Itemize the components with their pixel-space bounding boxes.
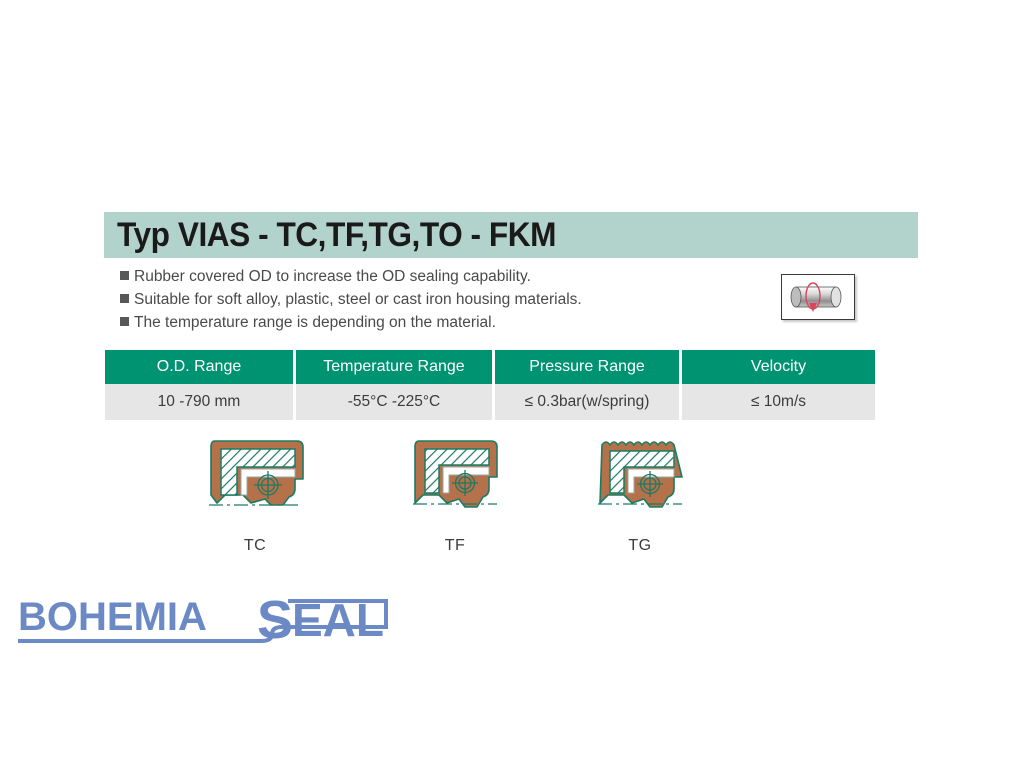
seal-label-tg: TG bbox=[588, 537, 692, 555]
feature-text: The temperature range is depending on th… bbox=[134, 313, 496, 333]
seal-cross-section-tc-icon bbox=[197, 433, 313, 533]
list-item: Suitable for soft alloy, plastic, steel … bbox=[120, 290, 740, 310]
square-bullet-icon bbox=[120, 294, 129, 303]
logo-text-bohemia: BOHEMIA bbox=[18, 595, 207, 639]
page-title: Typ VIAS - TC,TF,TG,TO - FKM bbox=[104, 216, 556, 255]
seal-diagram-tc: TC bbox=[197, 433, 313, 555]
feature-text: Rubber covered OD to increase the OD sea… bbox=[134, 267, 531, 287]
table-row: 10 -790 mm -55°C -225°C ≤ 0.3bar(w/sprin… bbox=[105, 384, 875, 420]
seal-diagram-tg: TG bbox=[588, 433, 692, 555]
column-header-pressure-range: Pressure Range bbox=[494, 350, 681, 384]
rotating-shaft-icon bbox=[782, 275, 854, 319]
table-header-row: O.D. Range Temperature Range Pressure Ra… bbox=[105, 350, 875, 384]
list-item: The temperature range is depending on th… bbox=[120, 313, 740, 333]
column-header-temperature-range: Temperature Range bbox=[295, 350, 494, 384]
cell-pressure-range: ≤ 0.3bar(w/spring) bbox=[494, 384, 681, 420]
seal-cross-section-tf-icon bbox=[403, 433, 507, 533]
square-bullet-icon bbox=[120, 271, 129, 280]
rotating-shaft-icon-box bbox=[781, 274, 855, 320]
bohemia-seal-logo: BOHEMIA S EAL bbox=[14, 588, 394, 650]
feature-list: Rubber covered OD to increase the OD sea… bbox=[120, 267, 740, 336]
feature-text: Suitable for soft alloy, plastic, steel … bbox=[134, 290, 582, 310]
cell-temperature-range: -55°C -225°C bbox=[295, 384, 494, 420]
list-item: Rubber covered OD to increase the OD sea… bbox=[120, 267, 740, 287]
seal-cross-section-tg-icon bbox=[588, 433, 692, 533]
column-header-velocity: Velocity bbox=[681, 350, 876, 384]
square-bullet-icon bbox=[120, 317, 129, 326]
seal-label-tc: TC bbox=[197, 537, 313, 555]
specification-table: O.D. Range Temperature Range Pressure Ra… bbox=[105, 350, 875, 420]
title-banner: Typ VIAS - TC,TF,TG,TO - FKM bbox=[104, 212, 918, 258]
column-header-od-range: O.D. Range bbox=[105, 350, 295, 384]
cell-velocity: ≤ 10m/s bbox=[681, 384, 876, 420]
seal-diagram-tf: TF bbox=[403, 433, 507, 555]
logo-icon: BOHEMIA S EAL bbox=[14, 588, 394, 650]
seal-label-tf: TF bbox=[403, 537, 507, 555]
cell-od-range: 10 -790 mm bbox=[105, 384, 295, 420]
